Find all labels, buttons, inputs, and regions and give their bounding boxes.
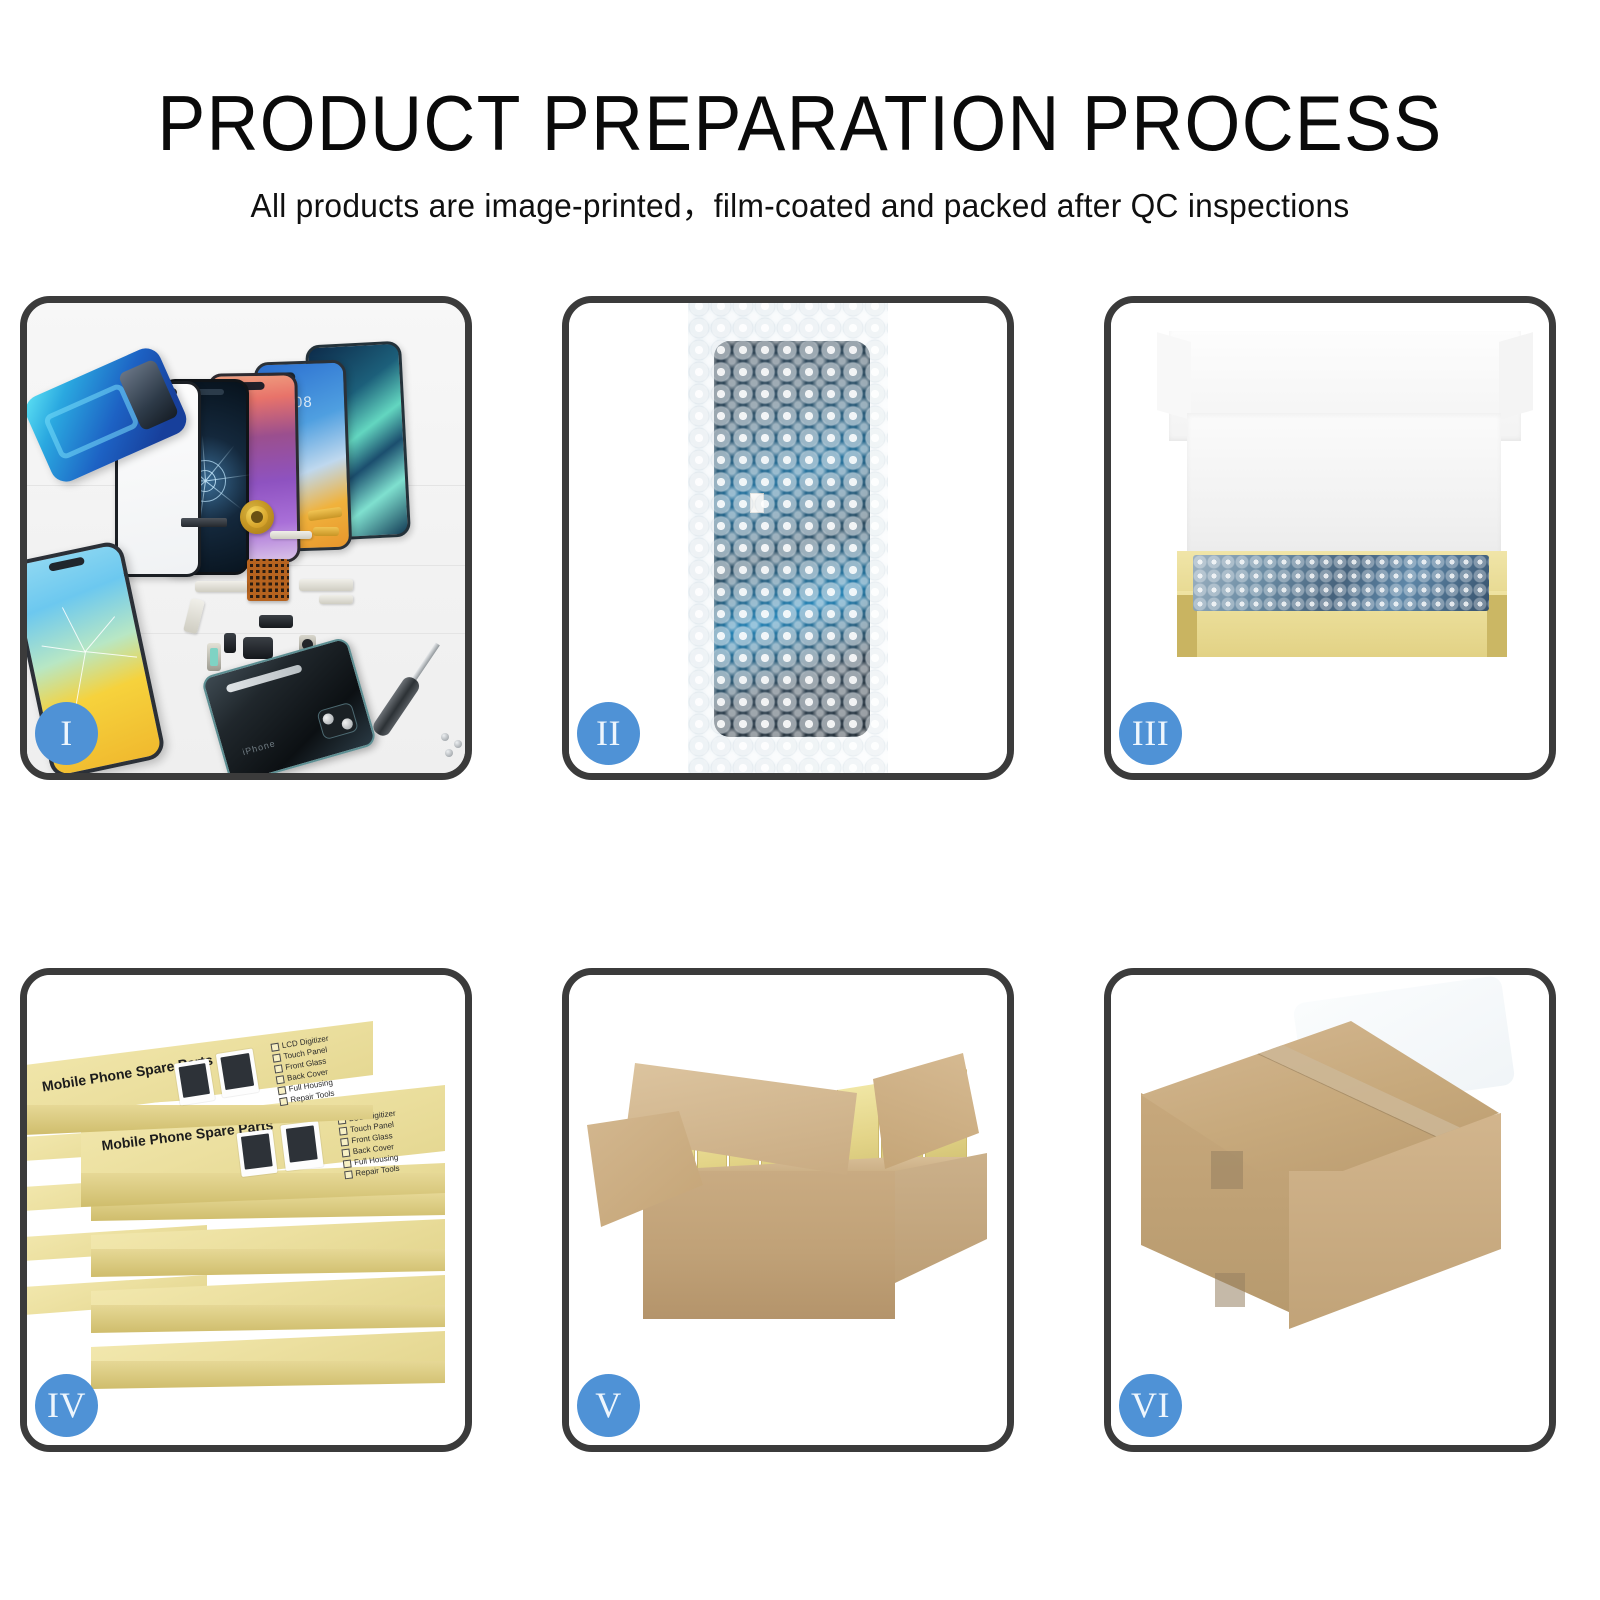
bubble-wrap-sleeve xyxy=(688,303,888,773)
gold-box-stack-item xyxy=(91,1331,445,1389)
open-carton-filled xyxy=(569,975,1007,1445)
gold-box-labelled-top: Mobile Phone Spare Parts LCD Digitizer T… xyxy=(27,1021,373,1121)
process-step-2-panel: II xyxy=(562,296,1014,780)
sealed-carton xyxy=(1111,975,1549,1445)
chassis-text: iPhone xyxy=(241,738,276,757)
gold-box-stack-item xyxy=(91,1275,445,1333)
stacked-gold-boxes: Mobile Phone Spare Parts LCD Digitizer T… xyxy=(27,975,465,1445)
wireless-charging-coil xyxy=(240,500,274,534)
ic-chip xyxy=(247,559,289,601)
step-badge-4: IV xyxy=(35,1374,98,1437)
box-phone-image xyxy=(280,1121,323,1171)
process-step-5-panel: V xyxy=(562,968,1014,1452)
flex-cable xyxy=(270,531,312,539)
step-badge-3: III xyxy=(1119,702,1182,765)
sim-tray xyxy=(207,643,221,671)
gold-box-stack-item xyxy=(91,1219,445,1277)
bubble-texture-highlight xyxy=(688,303,888,773)
box-phone-image xyxy=(174,1059,215,1106)
frame-slot xyxy=(42,382,140,461)
flex-cable-gold xyxy=(313,527,339,536)
box-phone-image xyxy=(216,1048,259,1097)
step-badge-1: I xyxy=(35,702,98,765)
step-badge-6: VI xyxy=(1119,1374,1182,1437)
box-phone-image xyxy=(236,1129,277,1177)
box-interior-white xyxy=(1187,413,1501,559)
chassis-strip xyxy=(226,664,303,693)
process-panel-grid: 08:08 Mon 12 xyxy=(0,0,1600,1600)
vibration-motor xyxy=(243,637,273,659)
process-step-1-panel: 08:08 Mon 12 xyxy=(20,296,472,780)
bubble-texture xyxy=(1193,555,1489,611)
process-step-3-panel: III xyxy=(1104,296,1556,780)
chassis-camera-bump xyxy=(316,702,359,741)
speaker-module xyxy=(181,518,227,527)
flex-cable xyxy=(319,595,353,604)
battery-connector xyxy=(259,615,293,628)
process-step-4-panel: Mobile Phone Spare Parts LCD Digitizer T… xyxy=(20,968,472,1452)
product-parts-collage: 08:08 Mon 12 xyxy=(27,303,465,773)
small-component xyxy=(224,633,236,653)
flex-cable xyxy=(195,581,247,592)
flex-cable-long xyxy=(299,579,353,591)
carton-tape-tab-lower xyxy=(1215,1273,1245,1307)
bubble-wrapped-item-in-box xyxy=(1193,555,1489,611)
infographic-page: PRODUCT PREPARATION PROCESS All products… xyxy=(0,0,1600,1600)
tray-right-edge xyxy=(1487,595,1507,657)
box-checklist: LCD Digitizer Touch Panel Front Glass Ba… xyxy=(270,1033,338,1107)
gold-box-open-with-item xyxy=(1111,303,1549,773)
notch xyxy=(48,556,85,571)
process-step-6-panel: VI xyxy=(1104,968,1556,1452)
step-badge-2: II xyxy=(577,702,640,765)
bubble-wrapped-screen xyxy=(569,303,1007,773)
carton-tape-tab-upper xyxy=(1211,1151,1243,1189)
step-badge-5: V xyxy=(577,1374,640,1437)
